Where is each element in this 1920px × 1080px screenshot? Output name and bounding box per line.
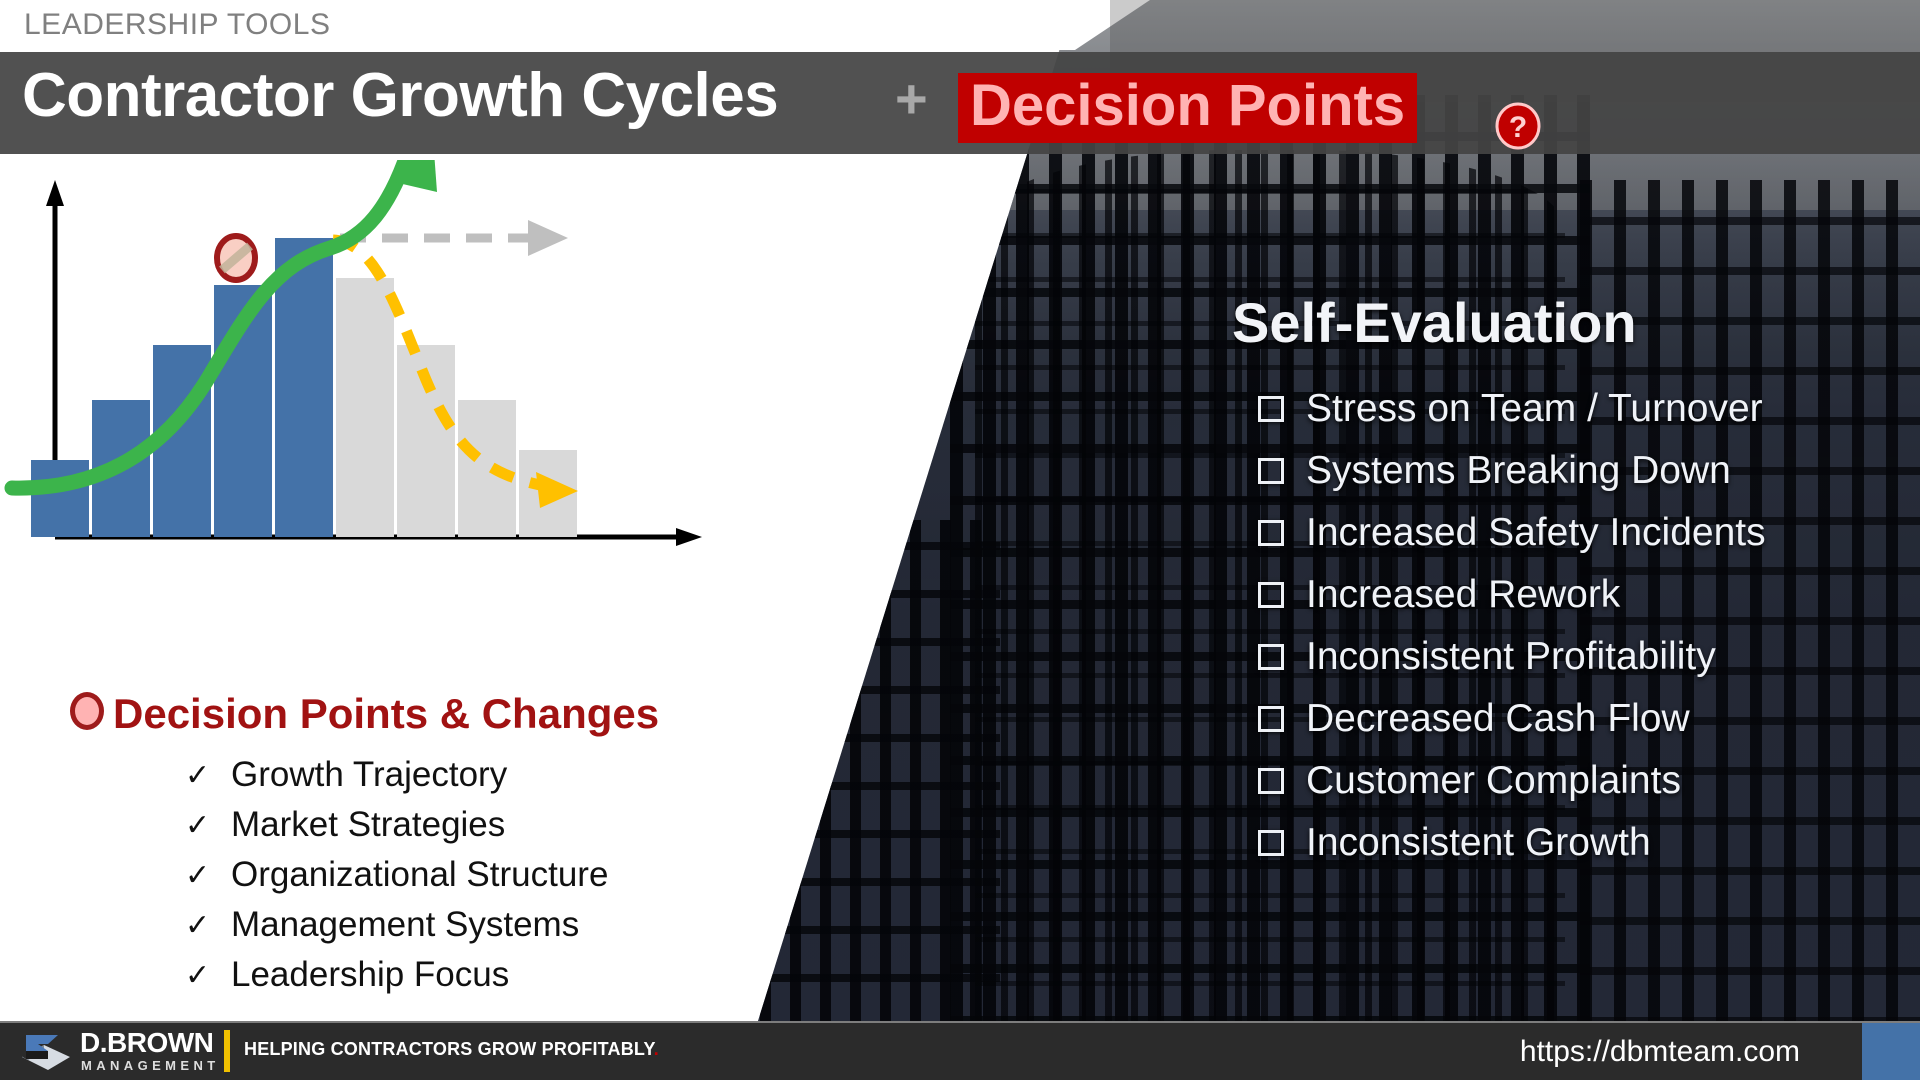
decision-point-marker[interactable] [217, 236, 255, 280]
list-item-label: Stress on Team / Turnover [1306, 387, 1763, 431]
list-item[interactable]: ✓ Leadership Focus [185, 950, 608, 1000]
list-item-label: Growth Trajectory [231, 755, 507, 795]
growth-cycle-chart [0, 160, 760, 590]
decision-points-heading: Decision Points & Changes [113, 690, 659, 738]
list-item-label: Decreased Cash Flow [1306, 697, 1690, 741]
page-title: Contractor Growth Cycles [22, 60, 778, 131]
list-item[interactable]: Decreased Cash Flow [1258, 688, 1766, 750]
dbrown-cube-logo-icon [18, 1029, 74, 1073]
list-item-label: Organizational Structure [231, 855, 608, 895]
checkbox-icon[interactable] [1258, 644, 1284, 670]
list-item[interactable]: ✓ Organizational Structure [185, 850, 608, 900]
footer-url[interactable]: https://dbmteam.com [1520, 1035, 1800, 1069]
list-item-label: Inconsistent Growth [1306, 821, 1651, 865]
bar-1 [31, 460, 89, 537]
checkbox-icon[interactable] [1258, 582, 1284, 608]
list-item[interactable]: Inconsistent Growth [1258, 812, 1766, 874]
check-icon: ✓ [185, 758, 231, 793]
svg-text:?: ? [1509, 111, 1527, 144]
list-item[interactable]: Increased Rework [1258, 564, 1766, 626]
list-item[interactable]: ✓ Management Systems [185, 900, 608, 950]
list-item-label: Customer Complaints [1306, 759, 1681, 803]
list-item[interactable]: Customer Complaints [1258, 750, 1766, 812]
chart-svg [0, 160, 760, 590]
footer-top-rule [0, 1021, 1920, 1023]
checkbox-icon[interactable] [1258, 520, 1284, 546]
list-item[interactable]: Increased Safety Incidents [1258, 502, 1766, 564]
check-icon: ✓ [185, 908, 231, 943]
footer-bar: D.BROWN MANAGEMENT HELPING CONTRACTORS G… [0, 1021, 1920, 1080]
title-plus-separator: + [895, 66, 928, 131]
decision-points-checklist: ✓ Growth Trajectory ✓ Market Strategies … [185, 750, 608, 1000]
bar-8 [458, 400, 516, 537]
list-item[interactable]: Inconsistent Profitability [1258, 626, 1766, 688]
check-icon: ✓ [185, 858, 231, 893]
footer-accent-block [1862, 1023, 1920, 1080]
self-evaluation-checklist: Stress on Team / Turnover Systems Breaki… [1258, 378, 1766, 874]
bar-6 [336, 278, 394, 537]
list-item[interactable]: Systems Breaking Down [1258, 440, 1766, 502]
list-item-label: Systems Breaking Down [1306, 449, 1731, 493]
checkbox-icon[interactable] [1258, 706, 1284, 732]
chart-bars [31, 238, 577, 537]
circle-marker-icon [70, 692, 104, 730]
brand-subtitle: MANAGEMENT [81, 1059, 220, 1072]
list-item[interactable]: ✓ Growth Trajectory [185, 750, 608, 800]
slide-root: LEADERSHIP TOOLS Contractor Growth Cycle… [0, 0, 1920, 1080]
list-item-label: Leadership Focus [231, 955, 509, 995]
footer-divider [224, 1030, 230, 1072]
checkbox-icon[interactable] [1258, 768, 1284, 794]
checkbox-icon[interactable] [1258, 458, 1284, 484]
checkbox-icon[interactable] [1258, 396, 1284, 422]
list-item-label: Increased Rework [1306, 573, 1620, 617]
eyebrow-label: LEADERSHIP TOOLS [24, 8, 330, 42]
check-icon: ✓ [185, 808, 231, 843]
list-item[interactable]: Stress on Team / Turnover [1258, 378, 1766, 440]
footer-tagline-dot: . [654, 1039, 659, 1059]
list-item-label: Management Systems [231, 905, 579, 945]
list-item-label: Market Strategies [231, 805, 505, 845]
question-mark-circle-icon[interactable]: ? [1494, 102, 1542, 150]
list-item-label: Inconsistent Profitability [1306, 635, 1716, 679]
checkbox-icon[interactable] [1258, 830, 1284, 856]
check-icon: ✓ [185, 958, 231, 993]
list-item[interactable]: ✓ Market Strategies [185, 800, 608, 850]
brand-name: D.BROWN [80, 1029, 213, 1057]
list-item-label: Increased Safety Incidents [1306, 511, 1766, 555]
self-evaluation-title: Self-Evaluation [1232, 290, 1637, 355]
footer-tagline-text: HELPING CONTRACTORS GROW PROFITABLY [244, 1039, 654, 1059]
footer-tagline: HELPING CONTRACTORS GROW PROFITABLY. [244, 1039, 659, 1060]
decision-points-chip: Decision Points [958, 73, 1417, 143]
